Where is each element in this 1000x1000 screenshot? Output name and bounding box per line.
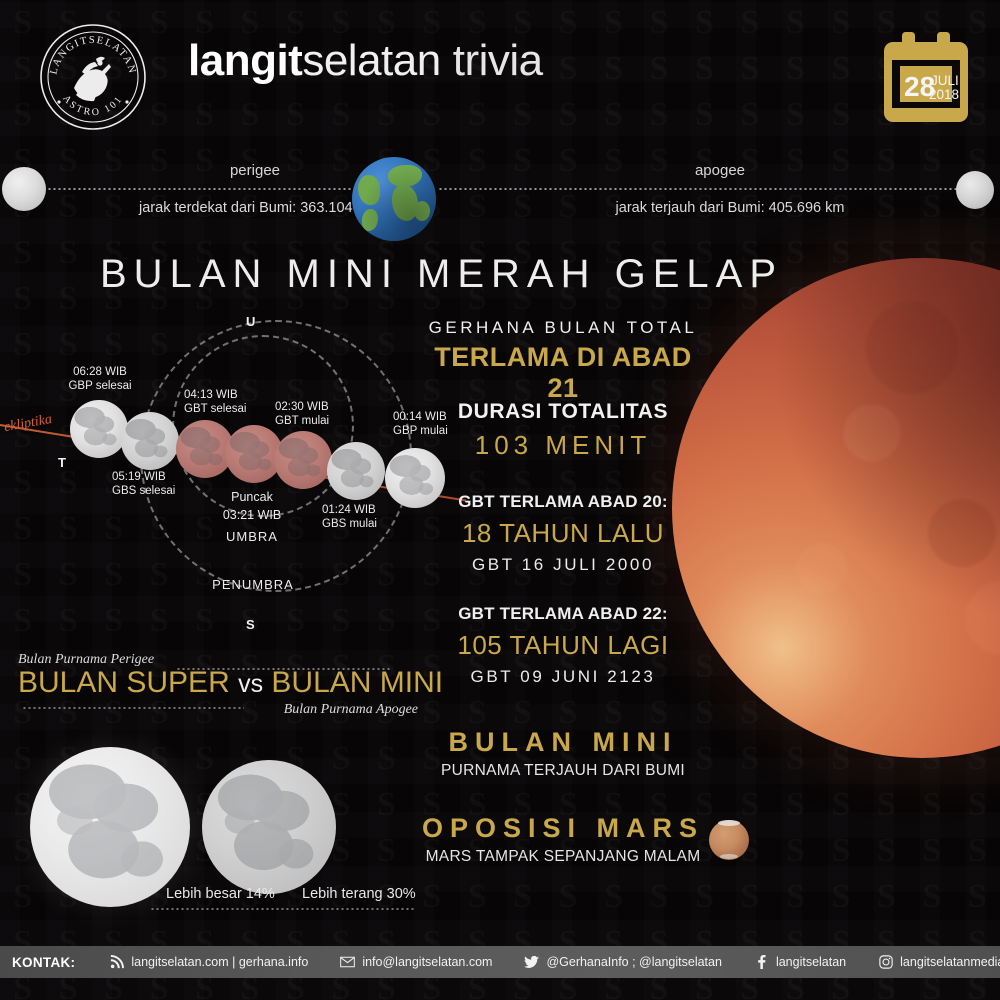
perigee-apogee-band [0,155,1000,240]
compare-labels-dotted-line [150,908,414,910]
eclipse-phase-moon [327,442,385,500]
phase-time: 01:24 WIB [322,504,376,516]
phase-label-0124: 01:24 WIB GBS mulai [322,503,377,531]
phase-label-0230: 02:30 WIB GBT mulai [275,400,329,428]
eclipse-phase-moon [70,400,128,458]
super-moon-maria [30,747,190,907]
footer-item-twitter[interactable]: @GerhanaInfo ; @langitselatan [508,955,737,970]
phase-time: 05:19 WIB [112,471,166,483]
super-moon-icon [30,747,190,907]
svg-text:JULI: JULI [931,73,959,88]
compare-size-label: Lebih besar 14% [166,886,275,902]
phase-time: 02:30 WIB [275,401,329,413]
phase-label-0413: 04:13 WIB GBT selesai [184,388,246,416]
compare-bottom-caption: Bulan Purnama Apogee [18,702,418,718]
fact-3-top: GBT TERLAMA ABAD 20: [418,492,708,512]
langitselatan-seal-icon: LANGITSELATAN ASTRO 101 [38,22,148,132]
apogee-dotted-line [438,188,960,190]
brand-light: selatan [302,36,440,85]
eclipse-phase-moon [274,431,332,489]
apogee-moon-icon [956,171,994,209]
footer-email-text: info@langitselatan.com [362,955,492,969]
supermoon-vs-minimoon-header: Bulan Purnama Perigee BULAN SUPER vs BUL… [18,652,418,718]
fact-block-longest: GERHANA BULAN TOTAL TERLAMA DI ABAD 21 [418,318,708,404]
brand-tail: trivia [453,36,543,85]
penumbra-label: PENUMBRA [188,578,318,592]
phase-label-0628: 06:28 WIB GBP selesai [40,365,160,393]
fact-5-sub: PURNAMA TERJAUH DARI BUMI [418,762,708,780]
mars-south-cap [720,854,738,859]
footer-item-email[interactable]: info@langitselatan.com [324,955,508,970]
facebook-icon [754,955,769,970]
mars-north-cap [718,820,740,826]
instagram-icon [878,955,893,970]
fact-4-sub: GBT 09 JUNI 2123 [418,667,708,687]
phase-event: GBT mulai [275,415,329,427]
fact-block-century20: GBT TERLAMA ABAD 20: 18 TAHUN LALU GBT 1… [418,492,708,575]
earth-globe-icon [352,157,436,241]
eclipse-phase-moon [121,412,179,470]
footer-contact-bar: KONTAK: langitselatan.com | gerhana.info… [0,946,1000,978]
compare-title-super: BULAN SUPER [18,666,230,699]
phase-event: GBP selesai [68,380,131,392]
phase-time: 04:13 WIB [184,389,238,401]
footer-kontak-label: KONTAK: [0,955,93,970]
phase-event: GBS selesai [112,485,175,497]
umbra-label: UMBRA [198,530,306,544]
perigee-moon-icon [2,167,46,211]
axis-letter-top: U [246,314,255,329]
footer-twitter-text: @GerhanaInfo ; @langitselatan [546,955,721,969]
mars-planet-icon [709,820,749,860]
eclipse-diagram: ekliptika U S T B 06:28 WIB GBP selesai … [0,300,470,660]
infographic-canvas: SSSSSSSSSSSSSSSSSSSSSSSSSSSSSSSSSSSSSSSS… [0,0,1000,1000]
phase-event: GBT selesai [184,403,246,415]
footer-website-text: langitselatan.com | gerhana.info [131,955,308,969]
envelope-icon [340,955,355,970]
brand-title: langitselatantrivia [188,36,543,86]
peak-time: 03:21 WIB [223,508,281,522]
phase-label-0519: 05:19 WIB GBS selesai [112,470,175,498]
rss-icon [109,955,124,970]
footer-item-facebook[interactable]: langitselatan [738,955,862,970]
axis-letter-left: T [58,455,66,470]
calendar-icon: 28 JULI 2018 [878,28,974,128]
fact-2-main: 103 MENIT [418,430,708,461]
fact-1-main: TERLAMA DI ABAD 21 [418,342,708,404]
perigee-dotted-line [42,188,360,190]
footer-instagram-text: langitselatanmedia [900,955,1000,969]
fact-3-sub: GBT 16 JULI 2000 [418,555,708,575]
page-title: BULAN MINI MERAH GELAP [100,252,783,297]
fact-block-duration: DURASI TOTALITAS 103 MENIT [418,400,708,461]
mini-moon-maria [202,760,336,894]
compare-brightness-label: Lebih terang 30% [302,886,416,902]
brand-bold: langit [188,36,302,85]
fact-6-main: OPOSISI MARS [418,813,708,844]
fact-6-sub: MARS TAMPAK SEPANJANG MALAM [418,848,708,866]
compare-title-vs: vs [238,670,263,698]
fact-block-mars: OPOSISI MARS MARS TAMPAK SEPANJANG MALAM [418,813,708,866]
footer-item-website[interactable]: langitselatan.com | gerhana.info [93,955,324,970]
footer-item-instagram[interactable]: langitselatanmedia [862,955,1000,970]
fact-4-main: 105 TAHUN LAGI [418,630,708,661]
header: LANGITSELATAN ASTRO 101 langitselatantri… [0,0,1000,150]
fact-4-top: GBT TERLAMA ABAD 22: [418,604,708,624]
peak-text: Puncak [231,490,273,504]
fact-block-minimoon: BULAN MINI PURNAMA TERJAUH DARI BUMI [418,727,708,780]
fact-5-main: BULAN MINI [418,727,708,758]
phase-time: 06:28 WIB [73,366,127,378]
compare-title: BULAN SUPER vs BULAN MINI [18,666,418,700]
fact-block-century22: GBT TERLAMA ABAD 22: 105 TAHUN LAGI GBT … [418,604,708,687]
axis-letter-bottom: S [246,617,255,632]
svg-text:2018: 2018 [929,87,959,102]
fact-1-top: GERHANA BULAN TOTAL [418,318,708,338]
peak-label: Puncak 03:21 WIB [198,488,306,524]
fact-3-main: 18 TAHUN LALU [418,518,708,549]
phase-event: GBS mulai [322,518,377,530]
mini-moon-icon [202,760,336,894]
twitter-icon [524,955,539,970]
fact-2-top: DURASI TOTALITAS [418,400,708,424]
footer-facebook-text: langitselatan [776,955,846,969]
compare-title-mini: BULAN MINI [271,666,443,699]
